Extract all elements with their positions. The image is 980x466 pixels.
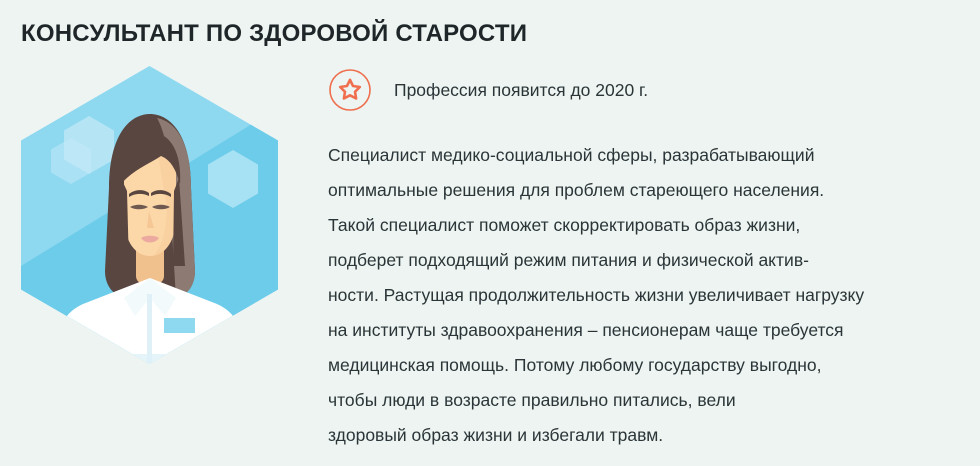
star-in-circle-icon: [327, 67, 373, 113]
description-text: Специалист медико-социальной сферы, разр…: [328, 138, 968, 453]
description-line: оптимальные решения для проблем стареюще…: [328, 173, 968, 208]
name-badge: [164, 318, 195, 333]
availability-row: Профессия появится до 2020 г.: [327, 67, 648, 113]
description-line: на институты здравоохранения – пенсионер…: [328, 313, 968, 348]
description-line: Специалист медико-социальной сферы, разр…: [328, 138, 968, 173]
coat-band: [57, 354, 243, 364]
description-line: Такой специалист поможет скорректировать…: [328, 208, 968, 243]
page-title: КОНСУЛЬТАНТ ПО ЗДОРОВОЙ СТАРОСТИ: [21, 20, 527, 48]
profession-card: КОНСУЛЬТАНТ ПО ЗДОРОВОЙ СТАРОСТИ: [0, 0, 980, 466]
female-doctor-hexagon-illustration: [21, 66, 278, 364]
coat-placket: [147, 294, 152, 364]
description-line: медицинская помощь. Потому любому госуда…: [328, 348, 968, 383]
description-line: подберет подходящий режим питания и физи…: [328, 243, 968, 278]
availability-text: Профессия появится до 2020 г.: [394, 78, 648, 102]
description-line: ности. Растущая продолжительность жизни …: [328, 278, 968, 313]
description-line: чтобы люди в возрасте правильно питались…: [328, 383, 968, 418]
description-line: здоровый образ жизни и избегали травм.: [328, 418, 968, 453]
